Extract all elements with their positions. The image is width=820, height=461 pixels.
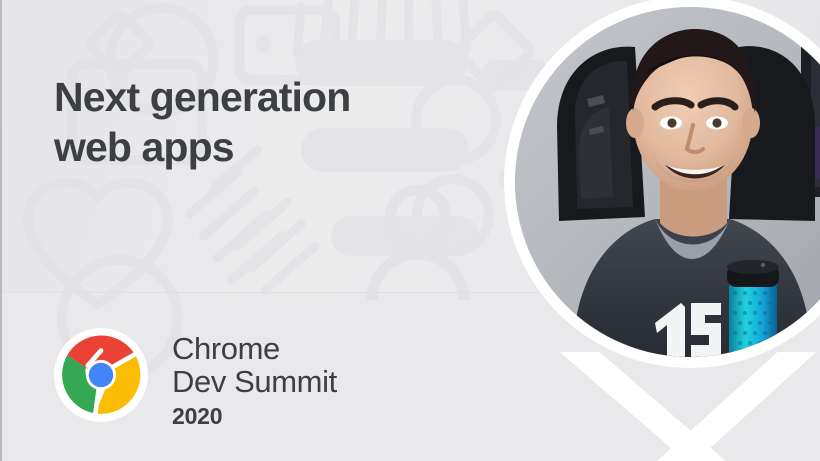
brand-line-year: 2020	[172, 401, 337, 432]
slide-title-line-1: Next generation	[54, 72, 484, 122]
brand-lockup: Chrome Dev Summit 2020	[54, 328, 337, 432]
slide-title-line-2: web apps	[54, 122, 484, 172]
brand-line-chrome: Chrome	[172, 332, 337, 365]
chrome-logo	[54, 328, 148, 422]
brand-line-dev-summit: Dev Summit	[172, 365, 337, 398]
speaker-portrait	[515, 7, 820, 357]
slide-canvas: Next generation web apps	[0, 0, 820, 461]
slide-title: Next generation web apps	[54, 72, 484, 172]
brand-text: Chrome Dev Summit 2020	[172, 328, 337, 432]
